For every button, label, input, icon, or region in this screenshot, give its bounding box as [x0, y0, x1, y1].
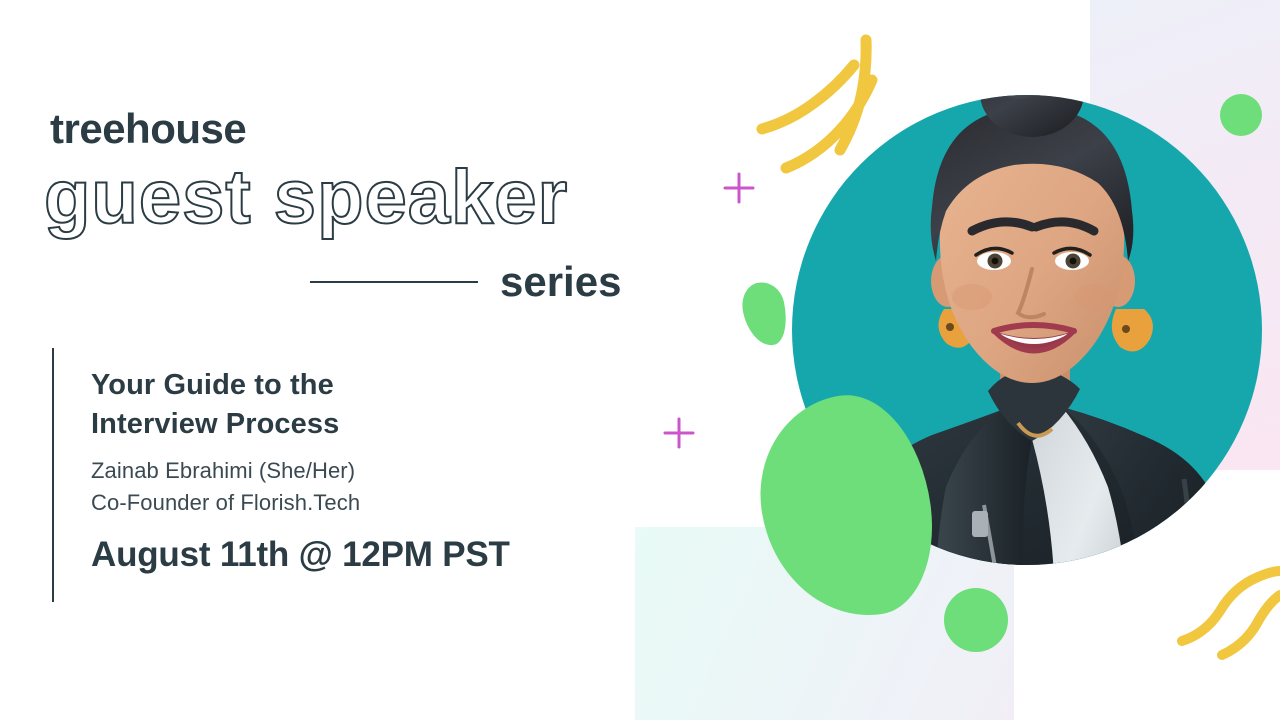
talk-title-line-2: Interview Process: [91, 405, 611, 444]
event-details: Your Guide to the Interview Process Zain…: [91, 366, 611, 574]
series-row: series: [310, 258, 625, 306]
series-divider: [310, 281, 478, 283]
promo-slide: treehouse guest speaker series Your Guid…: [0, 0, 1280, 720]
speaker-name: Zainab Ebrahimi (She/Her): [91, 455, 611, 487]
speaker-role: Co-Founder of Florish.Tech: [91, 487, 611, 519]
green-circle-shape-bottom: [944, 588, 1008, 652]
detail-vertical-rule: [52, 348, 54, 602]
event-datetime: August 11th @ 12PM PST: [91, 536, 611, 575]
talk-title-line-1: Your Guide to the: [91, 366, 611, 405]
page-title: guest speaker: [44, 160, 568, 236]
brand-wordmark: treehouse: [50, 108, 246, 150]
green-bean-shape: [738, 278, 792, 349]
series-label: series: [500, 261, 621, 303]
